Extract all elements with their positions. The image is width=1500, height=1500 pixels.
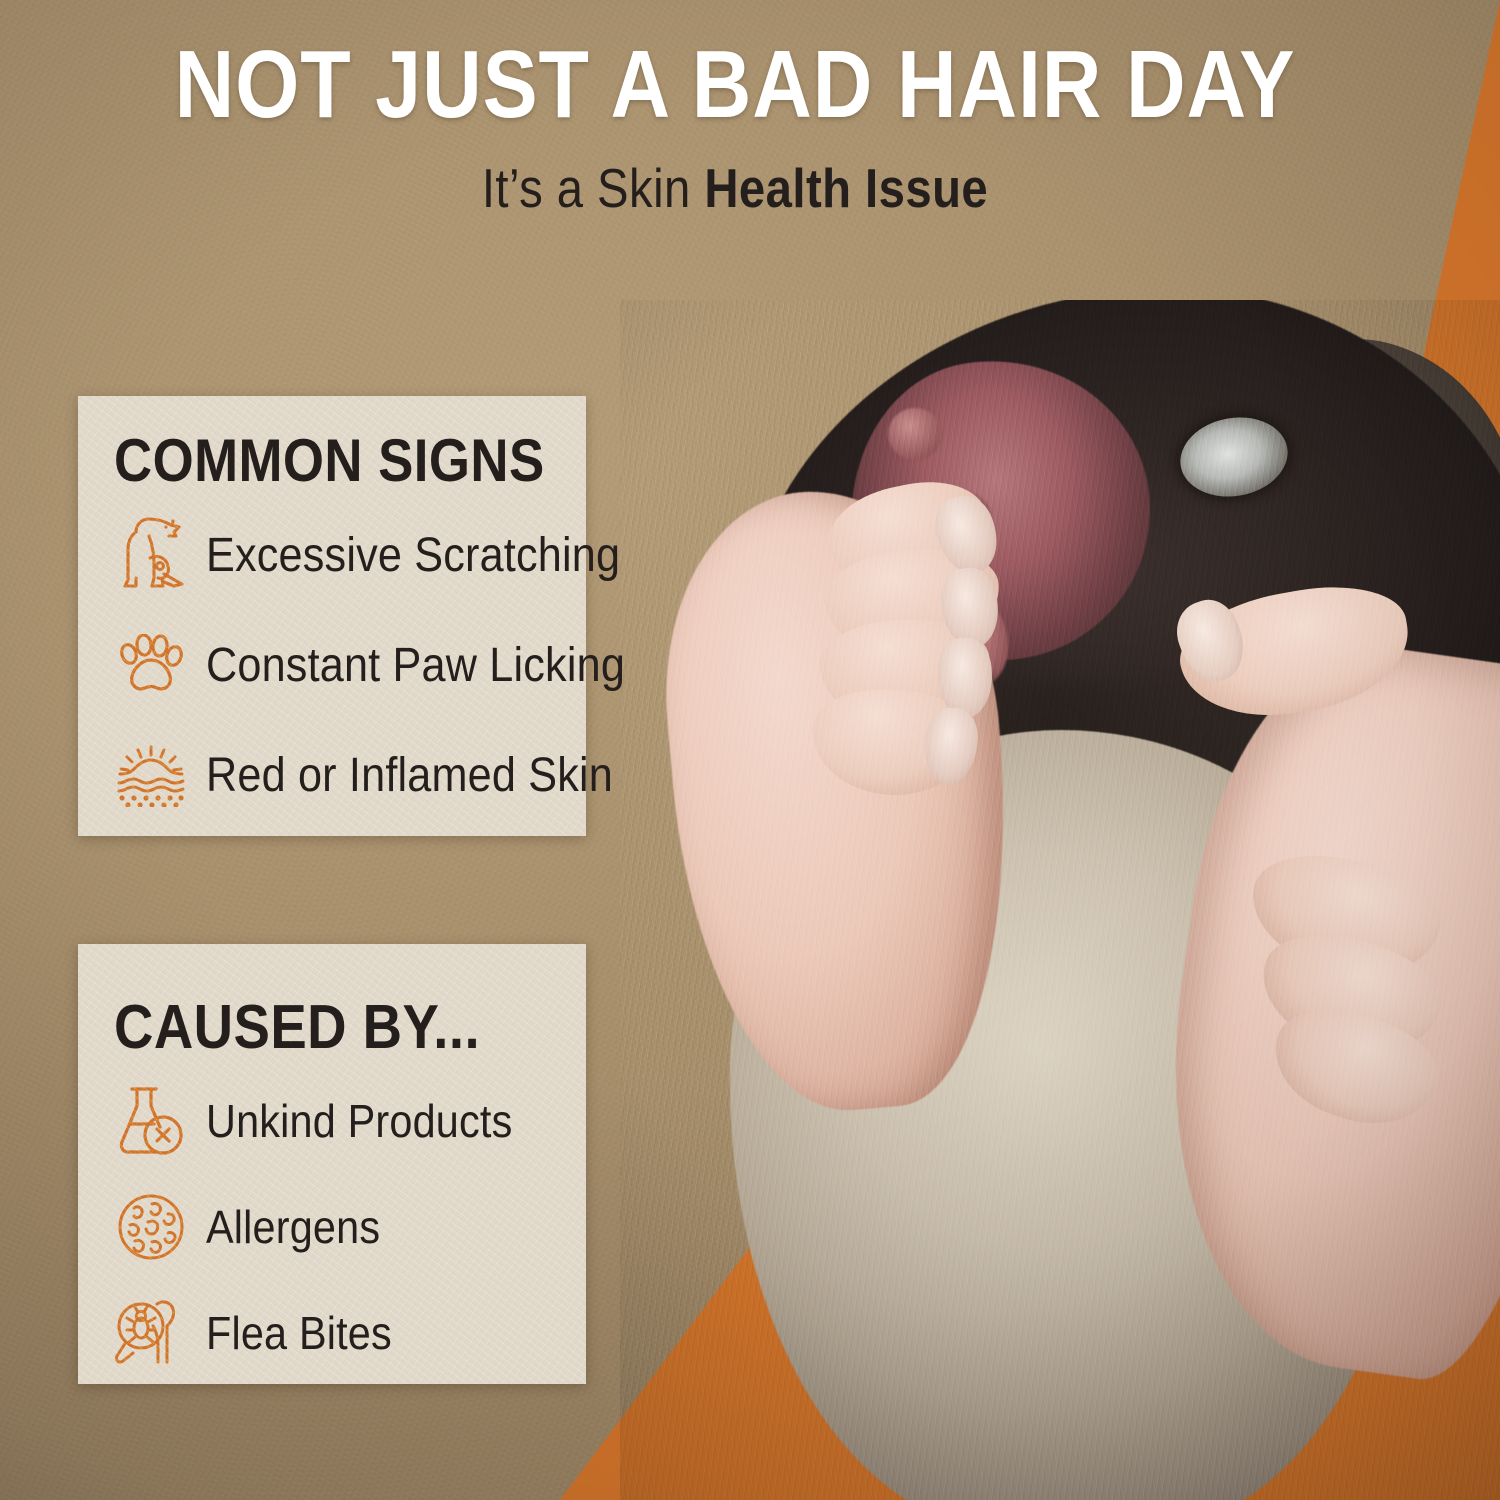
- card-caused-by: CAUSED BY... Unkind Products: [78, 944, 586, 1384]
- list-item: Constant Paw Licking: [112, 613, 552, 717]
- header-block: NOT JUST A BAD HAIR DAY It’s a Skin Heal…: [0, 36, 1470, 218]
- list-item-label: Unkind Products: [206, 1094, 512, 1148]
- paw-print-icon: [112, 634, 190, 696]
- allergens-icon: [112, 1192, 190, 1262]
- list-item-label: Flea Bites: [206, 1306, 392, 1360]
- card-common-signs: COMMON SIGNS Excessive Scratching: [78, 396, 586, 836]
- list-item: Allergens: [112, 1177, 552, 1277]
- subtitle-emphasis: Health Issue: [704, 157, 988, 219]
- list-item-label: Red or Inflamed Skin: [206, 748, 613, 803]
- list-item: Flea Bites: [112, 1283, 552, 1383]
- flask-no-icon: [112, 1084, 190, 1158]
- card-title-caused-by: CAUSED BY...: [114, 992, 499, 1063]
- poster-root: NOT JUST A BAD HAIR DAY It’s a Skin Heal…: [0, 0, 1500, 1500]
- list-item: Red or Inflamed Skin: [112, 723, 552, 827]
- list-item-label: Constant Paw Licking: [206, 638, 625, 693]
- page-title: NOT JUST A BAD HAIR DAY: [103, 36, 1367, 134]
- page-subtitle: It’s a Skin Health Issue: [103, 160, 1367, 218]
- list-item: Excessive Scratching: [112, 503, 552, 607]
- list-item: Unkind Products: [112, 1071, 552, 1171]
- dog-scratching-icon: [112, 514, 190, 596]
- inflamed-skin-icon: [112, 743, 190, 807]
- list-item-label: Allergens: [206, 1200, 380, 1254]
- flea-magnifier-icon: [112, 1296, 190, 1370]
- subtitle-prefix: It’s a Skin: [482, 157, 704, 219]
- list-item-label: Excessive Scratching: [206, 528, 620, 583]
- card-title-common-signs: COMMON SIGNS: [114, 426, 499, 495]
